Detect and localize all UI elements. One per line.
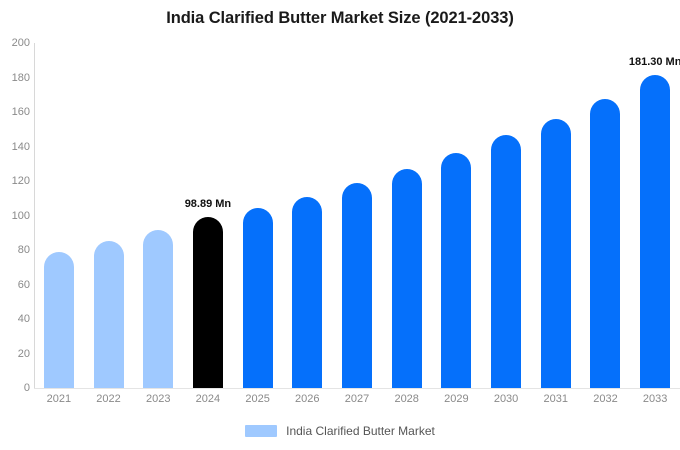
x-tick-label: 2027 xyxy=(345,393,369,405)
bar[interactable] xyxy=(243,208,273,388)
chart-title: India Clarified Butter Market Size (2021… xyxy=(0,9,680,28)
x-tick-label: 2022 xyxy=(96,393,120,405)
y-tick-label: 140 xyxy=(2,141,30,153)
bar-slot[interactable] xyxy=(432,43,482,388)
y-tick-label: 60 xyxy=(2,279,30,291)
x-tick-label: 2023 xyxy=(146,393,170,405)
bar-series: 98.89 Mn181.30 Mn xyxy=(34,43,680,388)
bar[interactable] xyxy=(94,241,124,388)
x-tick-label: 2028 xyxy=(394,393,418,405)
bar[interactable] xyxy=(193,217,223,388)
bar[interactable] xyxy=(491,135,521,388)
bar-slot[interactable] xyxy=(531,43,581,388)
bar[interactable] xyxy=(292,197,322,388)
bar-slot[interactable] xyxy=(233,43,283,388)
bar[interactable] xyxy=(44,252,74,388)
bar-slot[interactable] xyxy=(282,43,332,388)
y-tick-label: 200 xyxy=(2,37,30,49)
chart-legend: India Clarified Butter Market xyxy=(0,424,680,438)
x-tick-label: 2026 xyxy=(295,393,319,405)
x-axis-line xyxy=(34,388,680,389)
chart-container: India Clarified Butter Market Size (2021… xyxy=(0,0,680,450)
bar-value-label: 98.89 Mn xyxy=(185,198,231,210)
x-tick-label: 2032 xyxy=(593,393,617,405)
x-tick-label: 2024 xyxy=(196,393,220,405)
legend-label[interactable]: India Clarified Butter Market xyxy=(286,424,435,438)
y-tick-label: 120 xyxy=(2,175,30,187)
x-tick-label: 2025 xyxy=(245,393,269,405)
bar[interactable] xyxy=(441,153,471,388)
bar-slot[interactable] xyxy=(84,43,134,388)
y-tick-label: 100 xyxy=(2,210,30,222)
x-tick-label: 2031 xyxy=(544,393,568,405)
y-axis-ticks: 020406080100120140160180200 xyxy=(0,43,30,388)
bar[interactable] xyxy=(143,230,173,388)
y-tick-label: 0 xyxy=(2,382,30,394)
x-axis-ticks: 2021202220232024202520262027202820292030… xyxy=(34,393,680,413)
bar[interactable] xyxy=(392,169,422,388)
y-tick-label: 160 xyxy=(2,106,30,118)
bar-slot[interactable] xyxy=(34,43,84,388)
y-tick-label: 180 xyxy=(2,72,30,84)
y-tick-label: 20 xyxy=(2,348,30,360)
bar[interactable] xyxy=(640,75,670,388)
bar-slot[interactable] xyxy=(481,43,531,388)
x-tick-label: 2030 xyxy=(494,393,518,405)
bar-slot[interactable] xyxy=(382,43,432,388)
bar-slot[interactable] xyxy=(183,43,233,388)
x-tick-label: 2033 xyxy=(643,393,667,405)
bar-slot[interactable] xyxy=(630,43,680,388)
bar-slot[interactable] xyxy=(133,43,183,388)
x-tick-label: 2029 xyxy=(444,393,468,405)
bar[interactable] xyxy=(590,99,620,388)
x-tick-label: 2021 xyxy=(47,393,71,405)
bar[interactable] xyxy=(342,183,372,388)
bar-value-label: 181.30 Mn xyxy=(629,56,680,68)
bar-slot[interactable] xyxy=(581,43,631,388)
bar-slot[interactable] xyxy=(332,43,382,388)
bar[interactable] xyxy=(541,119,571,388)
y-tick-label: 40 xyxy=(2,313,30,325)
legend-swatch xyxy=(245,425,277,437)
y-tick-label: 80 xyxy=(2,244,30,256)
